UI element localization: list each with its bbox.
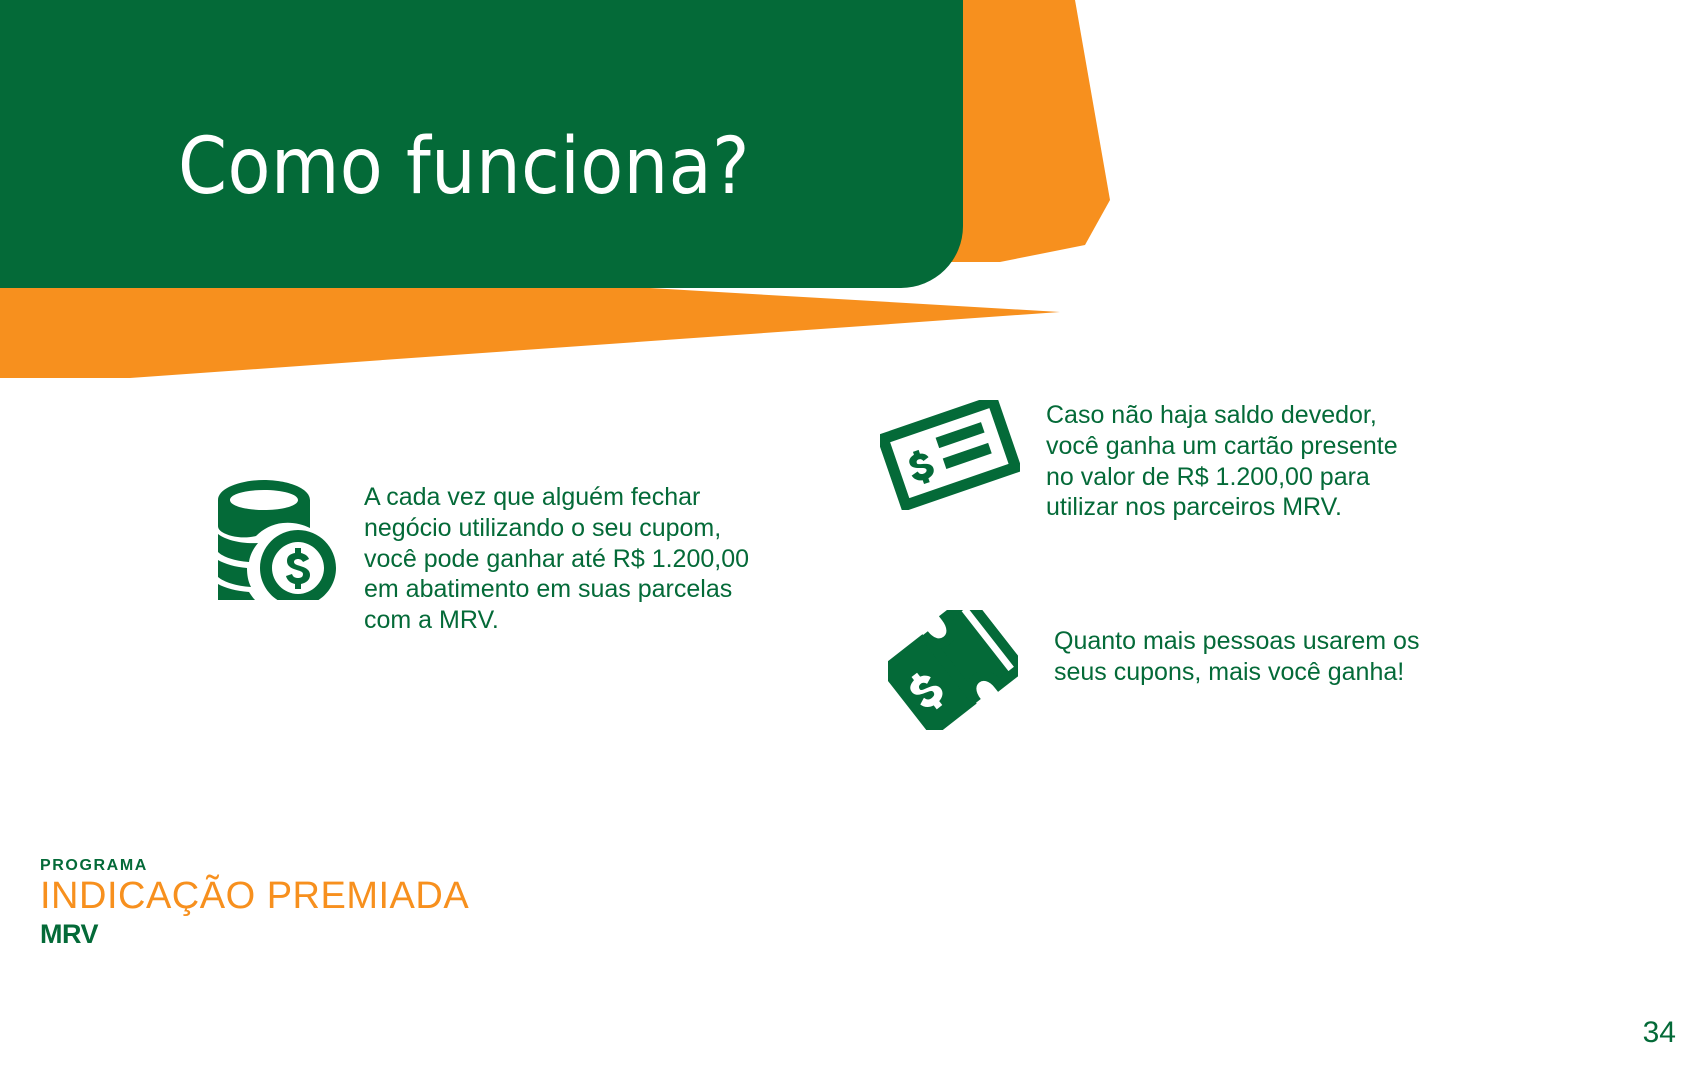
page-title: Como funciona?	[178, 128, 750, 206]
ticket-dollar-icon	[888, 610, 1018, 735]
benefit-text-coins: A cada vez que alguém fechar negócio uti…	[364, 482, 764, 636]
coin-stack-dollar-icon	[208, 478, 338, 605]
logo-indicacao-premiada-label: INDICAÇÃO PREMIADA	[40, 877, 469, 917]
benefit-text-ticket: Quanto mais pessoas usarem os seus cupon…	[1054, 626, 1444, 688]
benefit-block-voucher: Caso não haja saldo devedor, você ganha …	[880, 400, 1426, 523]
benefit-text-voucher: Caso não haja saldo devedor, você ganha …	[1046, 400, 1426, 523]
benefit-block-coins: A cada vez que alguém fechar negócio uti…	[208, 478, 764, 636]
page-number: 34	[1643, 1016, 1676, 1050]
logo-mrv-wordmark: MRV	[40, 921, 469, 948]
benefit-block-ticket: Quanto mais pessoas usarem os seus cupon…	[888, 610, 1444, 735]
logo-programa-label: PROGRAMA	[40, 858, 469, 874]
slide-canvas: Como funciona?	[0, 0, 1706, 1066]
money-voucher-icon	[880, 400, 1020, 515]
program-logo: PROGRAMA INDICAÇÃO PREMIADA MRV	[40, 858, 469, 948]
